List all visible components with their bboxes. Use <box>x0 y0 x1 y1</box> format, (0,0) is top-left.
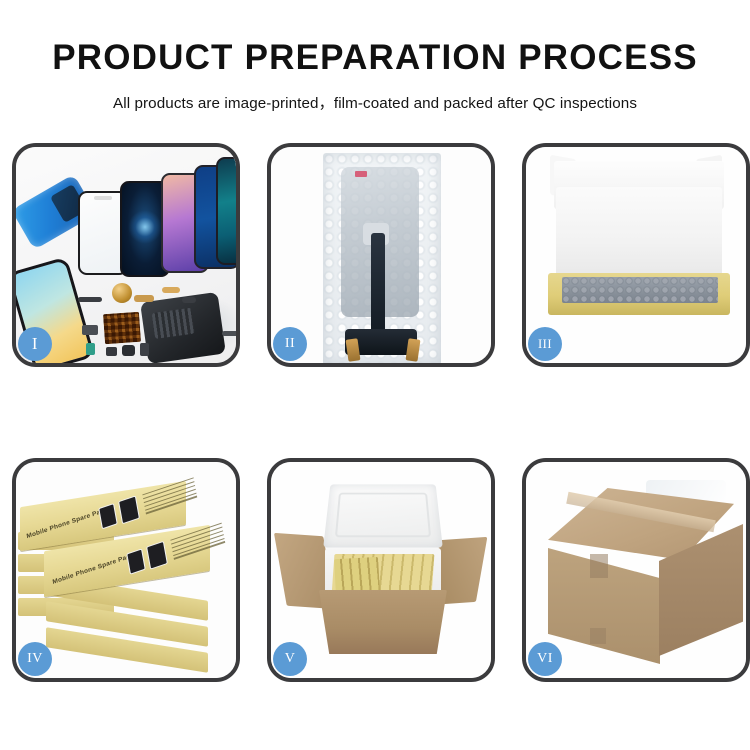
flex-cable-icon <box>134 295 154 302</box>
speaker-module-icon <box>112 283 132 303</box>
yellow-tray-icon <box>548 273 730 315</box>
spare-part-icon <box>82 325 98 335</box>
step-badge-5: V <box>273 642 307 676</box>
step-1-image <box>16 147 236 363</box>
qc-sticker-icon <box>355 171 367 177</box>
step-5-image <box>271 462 491 678</box>
foam-lid-icon <box>323 484 443 547</box>
step-4-image: Mobile Phone Spare Parts Mobile Phone Sp… <box>16 462 236 678</box>
phone-print-icon <box>126 548 146 574</box>
step-badge-2: II <box>273 327 307 361</box>
step-panel-2: II <box>267 143 495 367</box>
teal-phone-icon <box>216 157 236 265</box>
step-panel-1: I <box>12 143 240 367</box>
spare-part-icon <box>182 297 196 303</box>
carton-body-icon <box>319 590 447 654</box>
carton-flap-seam <box>590 554 608 578</box>
box-stack-icon: Mobile Phone Spare Parts Mobile Phone Sp… <box>16 480 236 678</box>
spare-part-icon <box>78 297 102 302</box>
step-3-image <box>526 147 746 363</box>
spare-part-icon <box>86 343 95 355</box>
page-title: PRODUCT PREPARATION PROCESS <box>0 40 750 75</box>
step-badge-4: IV <box>18 642 52 676</box>
step-badge-3: III <box>528 327 562 361</box>
box-spec-lines <box>170 523 225 562</box>
chip-array-icon <box>103 312 141 344</box>
process-step-grid: I II <box>12 143 738 683</box>
bubble-wrap-bag-icon <box>323 153 441 363</box>
bubble-wrapped-contents-icon <box>562 277 718 303</box>
phone-print-icon <box>118 495 140 524</box>
step-panel-6: VI <box>522 458 750 682</box>
yellow-boxes-row-icon <box>334 557 380 595</box>
product-preparation-infographic: PRODUCT PREPARATION PROCESS All products… <box>0 0 750 750</box>
spare-part-icon <box>122 345 135 356</box>
step-2-image <box>271 147 491 363</box>
phone-print-icon <box>146 541 168 570</box>
step-badge-1: I <box>18 327 52 361</box>
step-panel-3: III <box>522 143 750 367</box>
step-badge-6: VI <box>528 642 562 676</box>
gold-contact-icon <box>406 338 421 361</box>
carton-flap-seam <box>590 628 606 644</box>
step-panel-5: V <box>267 458 495 682</box>
spare-part-icon <box>140 343 149 356</box>
spare-part-icon <box>106 347 117 356</box>
spare-part-icon <box>222 331 236 336</box>
box-label-text: Mobile Phone Spare Parts <box>52 552 136 586</box>
flex-cable-icon <box>162 287 180 293</box>
phone-print-icon <box>98 503 118 529</box>
header: PRODUCT PREPARATION PROCESS All products… <box>0 0 750 113</box>
box-label-text: Mobile Phone Spare Parts <box>26 506 110 540</box>
step-panel-4: Mobile Phone Spare Parts Mobile Phone Sp… <box>12 458 240 682</box>
step-6-image <box>526 462 746 678</box>
foam-body-icon <box>556 187 722 279</box>
page-subtitle: All products are image-printed，film-coat… <box>0 91 750 113</box>
box-spec-lines <box>142 477 197 516</box>
